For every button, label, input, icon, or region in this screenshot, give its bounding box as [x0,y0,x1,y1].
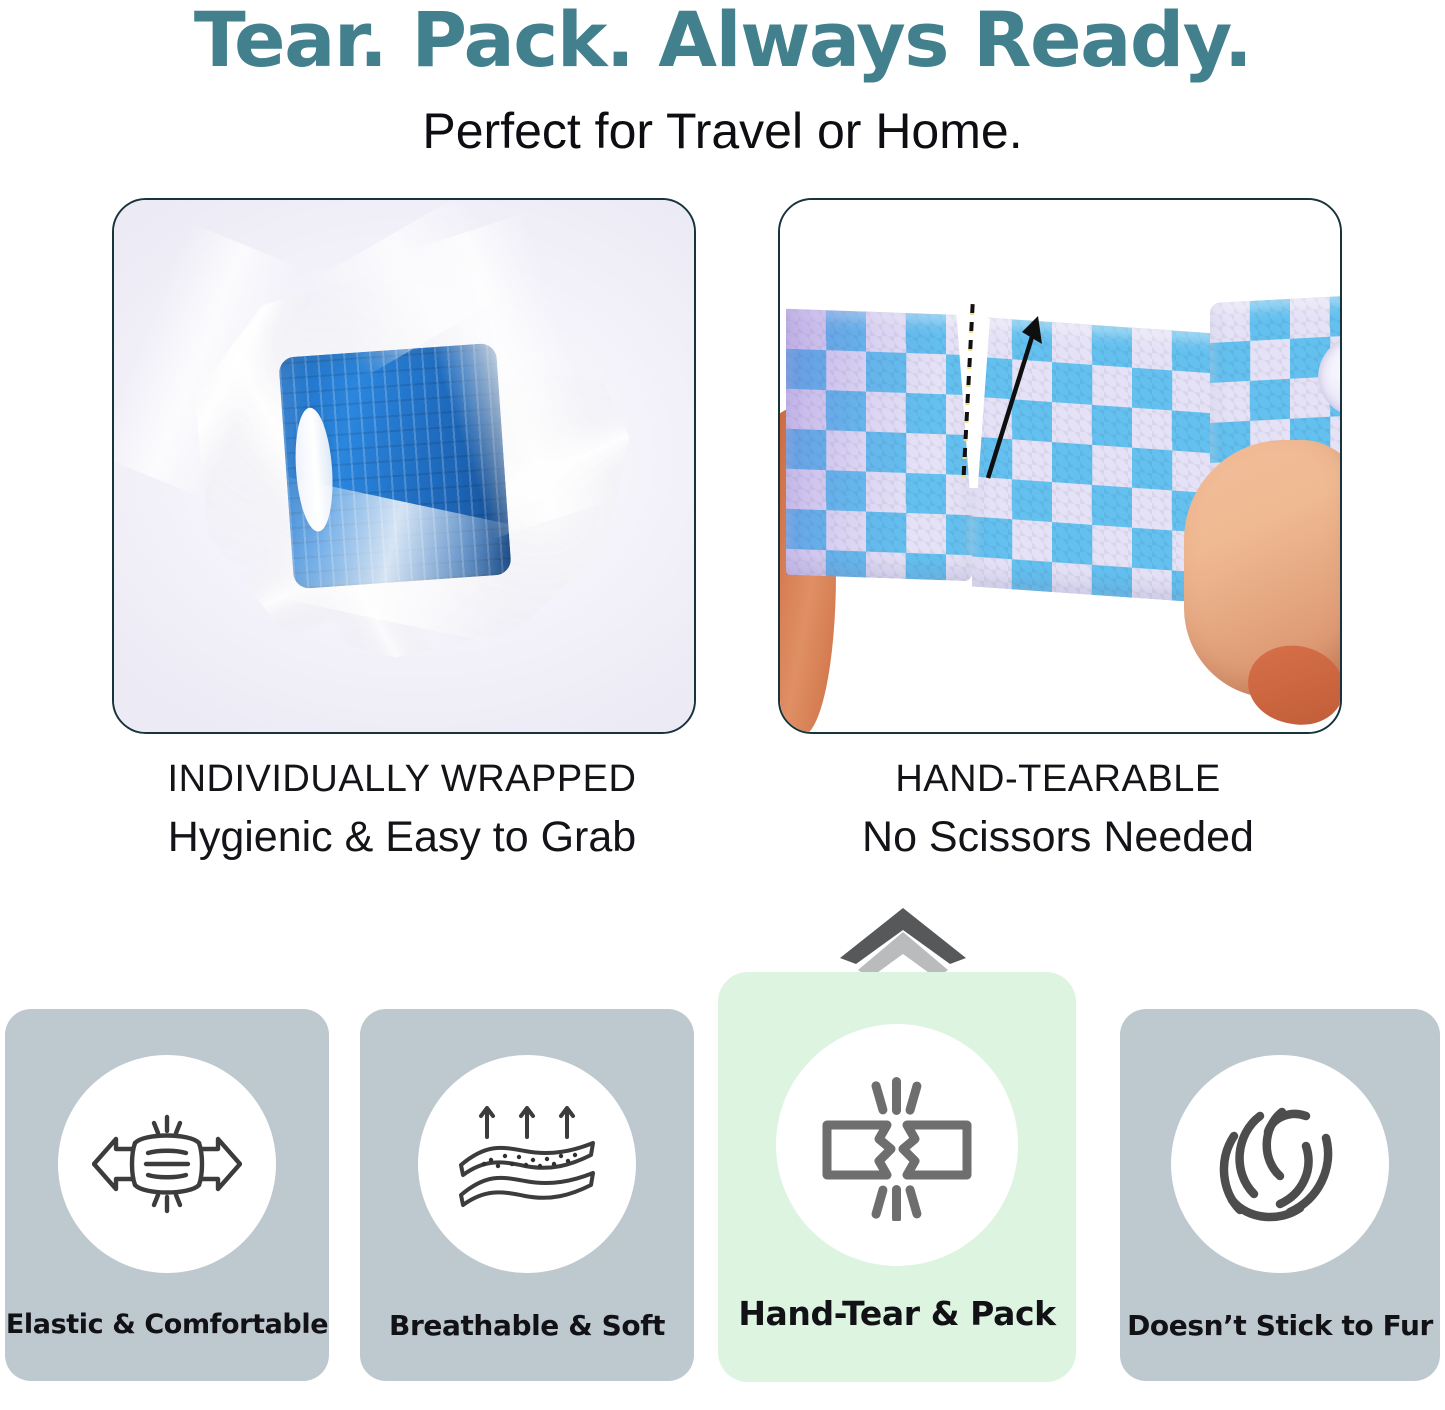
page-subheadline: Perfect for Travel or Home. [0,104,1445,159]
feature-card-hand-tear-pack[interactable]: Hand-Tear & Pack [718,972,1076,1382]
icon-badge [1171,1055,1389,1273]
icon-badge [776,1024,1018,1266]
torn-bandage-icon [817,1069,977,1221]
page-headline: Tear. Pack. Always Ready. [0,2,1445,78]
checkered-tape-left-section [786,309,972,581]
photo-panel-individually-wrapped [112,198,696,734]
stretch-arrows-icon [92,1103,242,1225]
caption-title: INDIVIDUALLY WRAPPED [112,757,692,802]
feature-card-breathable-soft[interactable]: Breathable & Soft [360,1009,694,1381]
caption-individually-wrapped: INDIVIDUALLY WRAPPED Hygienic & Easy to … [112,757,692,863]
photo-panel-hand-tearable [778,198,1342,734]
icon-badge [58,1055,276,1273]
feature-card-elastic-comfortable[interactable]: Elastic & Comfortable [5,1009,329,1381]
icon-badge [418,1055,636,1273]
fur-swirl-icon [1210,1094,1350,1234]
caption-subtitle: No Scissors Needed [778,812,1338,863]
feature-card-label: Hand-Tear & Pack [718,1294,1076,1333]
tear-direction-arrow-icon [976,310,1046,482]
breathable-layers-icon [451,1103,603,1225]
feature-card-doesnt-stick-to-fur[interactable]: Doesn’t Stick to Fur [1120,1009,1440,1381]
feature-card-label: Breathable & Soft [360,1309,694,1342]
caption-hand-tearable: HAND-TEARABLE No Scissors Needed [778,757,1338,863]
caption-subtitle: Hygienic & Easy to Grab [112,812,692,863]
feature-card-label: Elastic & Comfortable [5,1309,329,1340]
feature-card-label: Doesn’t Stick to Fur [1120,1309,1440,1342]
caption-title: HAND-TEARABLE [778,757,1338,802]
